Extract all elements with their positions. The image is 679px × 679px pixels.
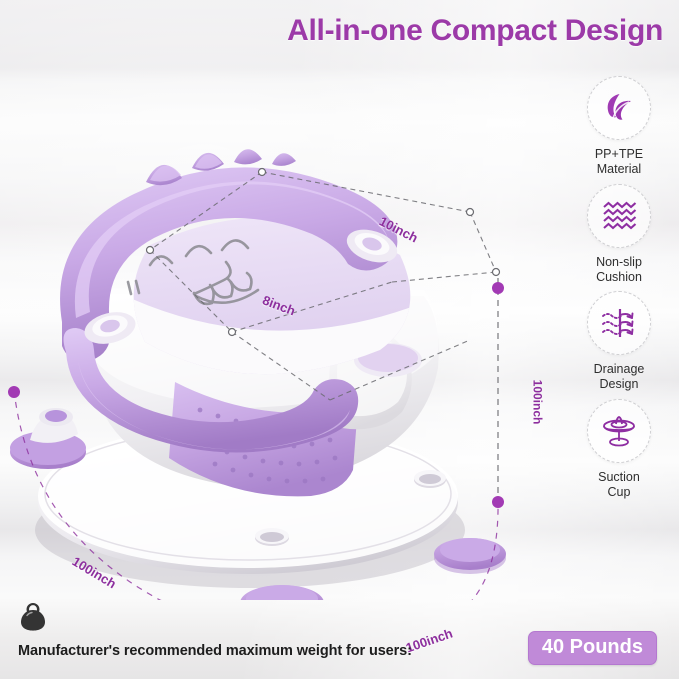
feature-drainage-design: Drainage Design xyxy=(563,291,675,393)
suction-cup-icon xyxy=(587,399,651,463)
weight-disclaimer-text: Manufacturer's recommended maximum weigh… xyxy=(18,643,412,659)
feature-list: PP+TPE Material Non-slip Cushion xyxy=(559,76,679,596)
leaf-icon xyxy=(587,76,651,140)
suction-cup-right xyxy=(434,538,506,574)
feature-pp-tpe-material: PP+TPE Material xyxy=(563,76,675,178)
zigzag-icon xyxy=(587,184,651,248)
max-weight-badge: 40 Pounds xyxy=(528,631,657,665)
feature-label: PP+TPE Material xyxy=(595,147,643,178)
feature-suction-cup: Suction Cup xyxy=(563,399,675,501)
product-illustration: 10inch 8inch 100inch 100inch 100inch xyxy=(0,60,560,600)
feature-non-slip-cushion: Non-slip Cushion xyxy=(563,184,675,286)
feature-label: Non-slip Cushion xyxy=(596,255,642,286)
feature-label: Drainage Design xyxy=(594,362,645,393)
suction-cup-left xyxy=(10,408,86,469)
water-flow-icon xyxy=(587,291,651,355)
footer-bar: Manufacturer's recommended maximum weigh… xyxy=(0,597,679,679)
page-title: All-in-one Compact Design xyxy=(0,14,663,48)
kettlebell-icon xyxy=(18,600,48,637)
dimension-label-right-100inch: 100inch xyxy=(530,380,544,425)
feature-label: Suction Cup xyxy=(598,470,640,501)
